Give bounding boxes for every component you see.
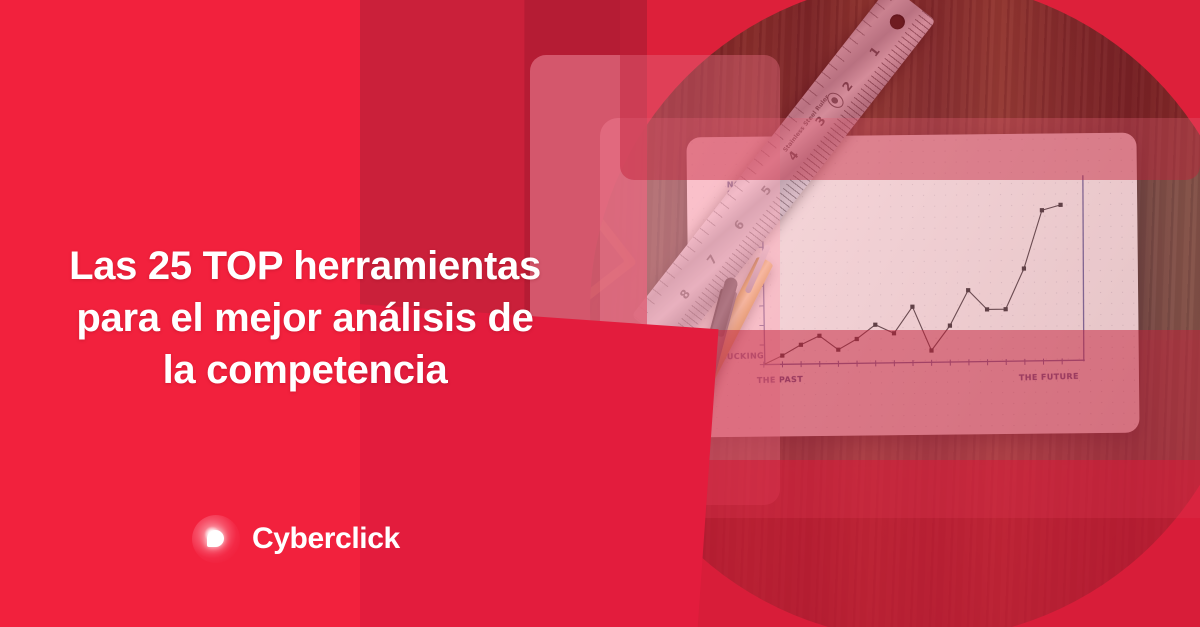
brand-name: Cyberclick bbox=[252, 522, 400, 556]
chart-x-left-label: THE PAST bbox=[757, 376, 803, 386]
chart-data-point bbox=[836, 348, 840, 352]
page-title: Las 25 TOP herramientas para el mejor an… bbox=[0, 240, 610, 396]
chart-data-point bbox=[873, 323, 877, 327]
logo-inner-dot bbox=[207, 530, 224, 547]
cyberclick-dot-icon bbox=[192, 515, 240, 563]
chart-data-point bbox=[966, 288, 970, 292]
chart-data-point bbox=[1040, 208, 1044, 212]
chart-data-point bbox=[817, 334, 821, 338]
chart-data-point bbox=[1004, 307, 1008, 311]
chart-x-right-label: THE FUTURE bbox=[1019, 373, 1079, 384]
title-line-1: Las 25 TOP herramientas bbox=[0, 240, 610, 292]
blog-banner: NOT SUCKING SUCKING THE PAST THE FUTURE … bbox=[0, 0, 1200, 627]
cyberclick-logo[interactable]: Cyberclick bbox=[192, 515, 400, 563]
chart-data-point bbox=[948, 323, 952, 327]
title-line-2: para el mejor análisis de bbox=[0, 292, 610, 344]
chart-data-point bbox=[929, 348, 933, 352]
chart-data-point bbox=[780, 353, 784, 357]
chart-data-point bbox=[855, 337, 859, 341]
chart-data-point bbox=[799, 343, 803, 347]
hero-photo: NOT SUCKING SUCKING THE PAST THE FUTURE … bbox=[590, 0, 1200, 627]
chart-data-point bbox=[910, 305, 914, 309]
chart-data-point bbox=[1058, 203, 1062, 207]
chart-data-point bbox=[892, 331, 896, 335]
title-line-3: la competencia bbox=[0, 344, 610, 396]
chart-data-point bbox=[985, 307, 989, 311]
chart-data-point bbox=[1022, 266, 1026, 270]
